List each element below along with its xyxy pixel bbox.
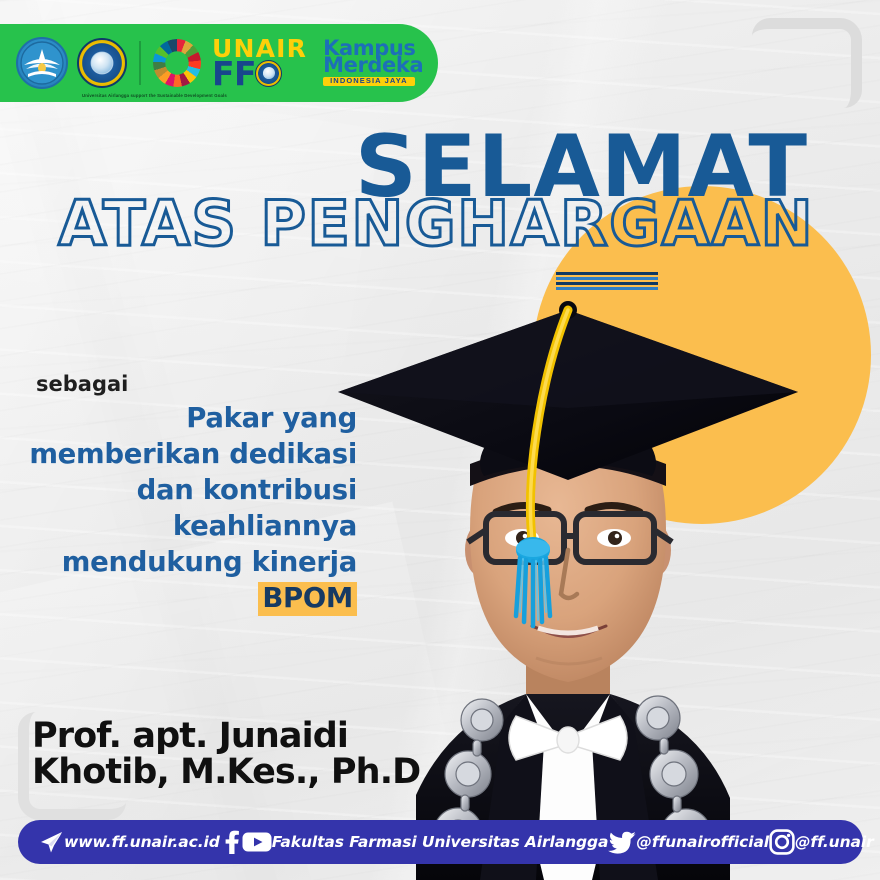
ffo-wordmark: FF — [212, 60, 307, 87]
poster-canvas: UNAIR FF Kampus Merdeka INDONESIA JAYA U… — [0, 0, 880, 880]
body-text-main: Pakar yang memberikan dedikasi dan kontr… — [29, 402, 357, 578]
header-logo-row: UNAIR FF Kampus Merdeka INDONESIA JAYA U… — [16, 37, 423, 89]
footer-twitter-handle[interactable]: @ffunairofficial — [636, 833, 769, 851]
kampus-badge: INDONESIA JAYA — [323, 77, 415, 86]
sdg-wheel-icon — [153, 39, 201, 87]
headline-secondary: ATAS PENGHARGAAN — [58, 193, 814, 255]
kampus-merdeka-logo: Kampus Merdeka INDONESIA JAYA — [323, 40, 423, 87]
footer-page-name[interactable]: Fakultas Farmasi Universitas Airlangga — [272, 833, 609, 851]
awardee-name: Prof. apt. Junaidi Khotib, M.Kes., Ph.D — [32, 718, 462, 791]
headline-secondary-wrap: ATAS PENGHARGAAN — [0, 193, 824, 255]
tut-wuri-handayani-logo — [16, 37, 68, 89]
unair-ffo-logo: UNAIR FF — [212, 39, 307, 87]
sdg-caption: Universitas Airlangga support the Sustai… — [82, 93, 227, 98]
ffo-seal-o-icon — [255, 60, 282, 87]
paper-plane-icon — [38, 829, 64, 855]
kampus-line2: Merdeka — [323, 57, 423, 75]
stripe-accent — [556, 272, 658, 290]
facebook-icon[interactable] — [220, 830, 242, 854]
twitter-icon[interactable] — [608, 830, 636, 854]
youtube-icon[interactable] — [242, 831, 272, 853]
corner-bracket-top-right — [752, 18, 862, 108]
footer-contact-bar: www.ff.unair.ac.id Fakultas Farmasi Univ… — [18, 820, 863, 864]
header-logo-bar: UNAIR FF Kampus Merdeka INDONESIA JAYA U… — [0, 24, 438, 102]
instagram-icon[interactable] — [769, 829, 795, 855]
footer-website[interactable]: www.ff.unair.ac.id — [64, 833, 220, 851]
body-text: Pakar yang memberikan dedikasi dan kontr… — [20, 400, 357, 616]
unair-seal-logo — [77, 38, 127, 88]
headline-block: SELAMAT ATAS PENGHARGAAN — [0, 128, 824, 255]
footer-instagram-handle[interactable]: @ff.unair — [795, 833, 874, 851]
body-prefix: sebagai — [36, 372, 128, 396]
logo-divider — [139, 41, 141, 85]
